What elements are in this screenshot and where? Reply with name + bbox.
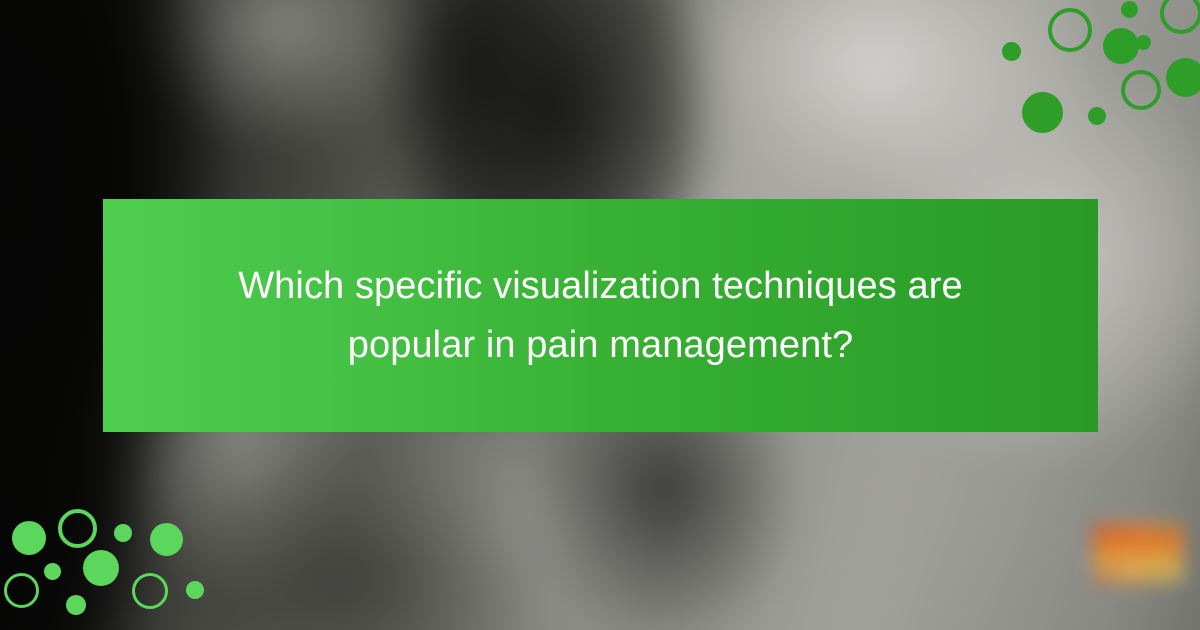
question-card: Which specific visualization techniques … [103, 199, 1098, 432]
poster-canvas: Which specific visualization techniques … [0, 0, 1200, 630]
scan-colorbar-artifact [1093, 523, 1183, 583]
question-text: Which specific visualization techniques … [221, 257, 981, 375]
